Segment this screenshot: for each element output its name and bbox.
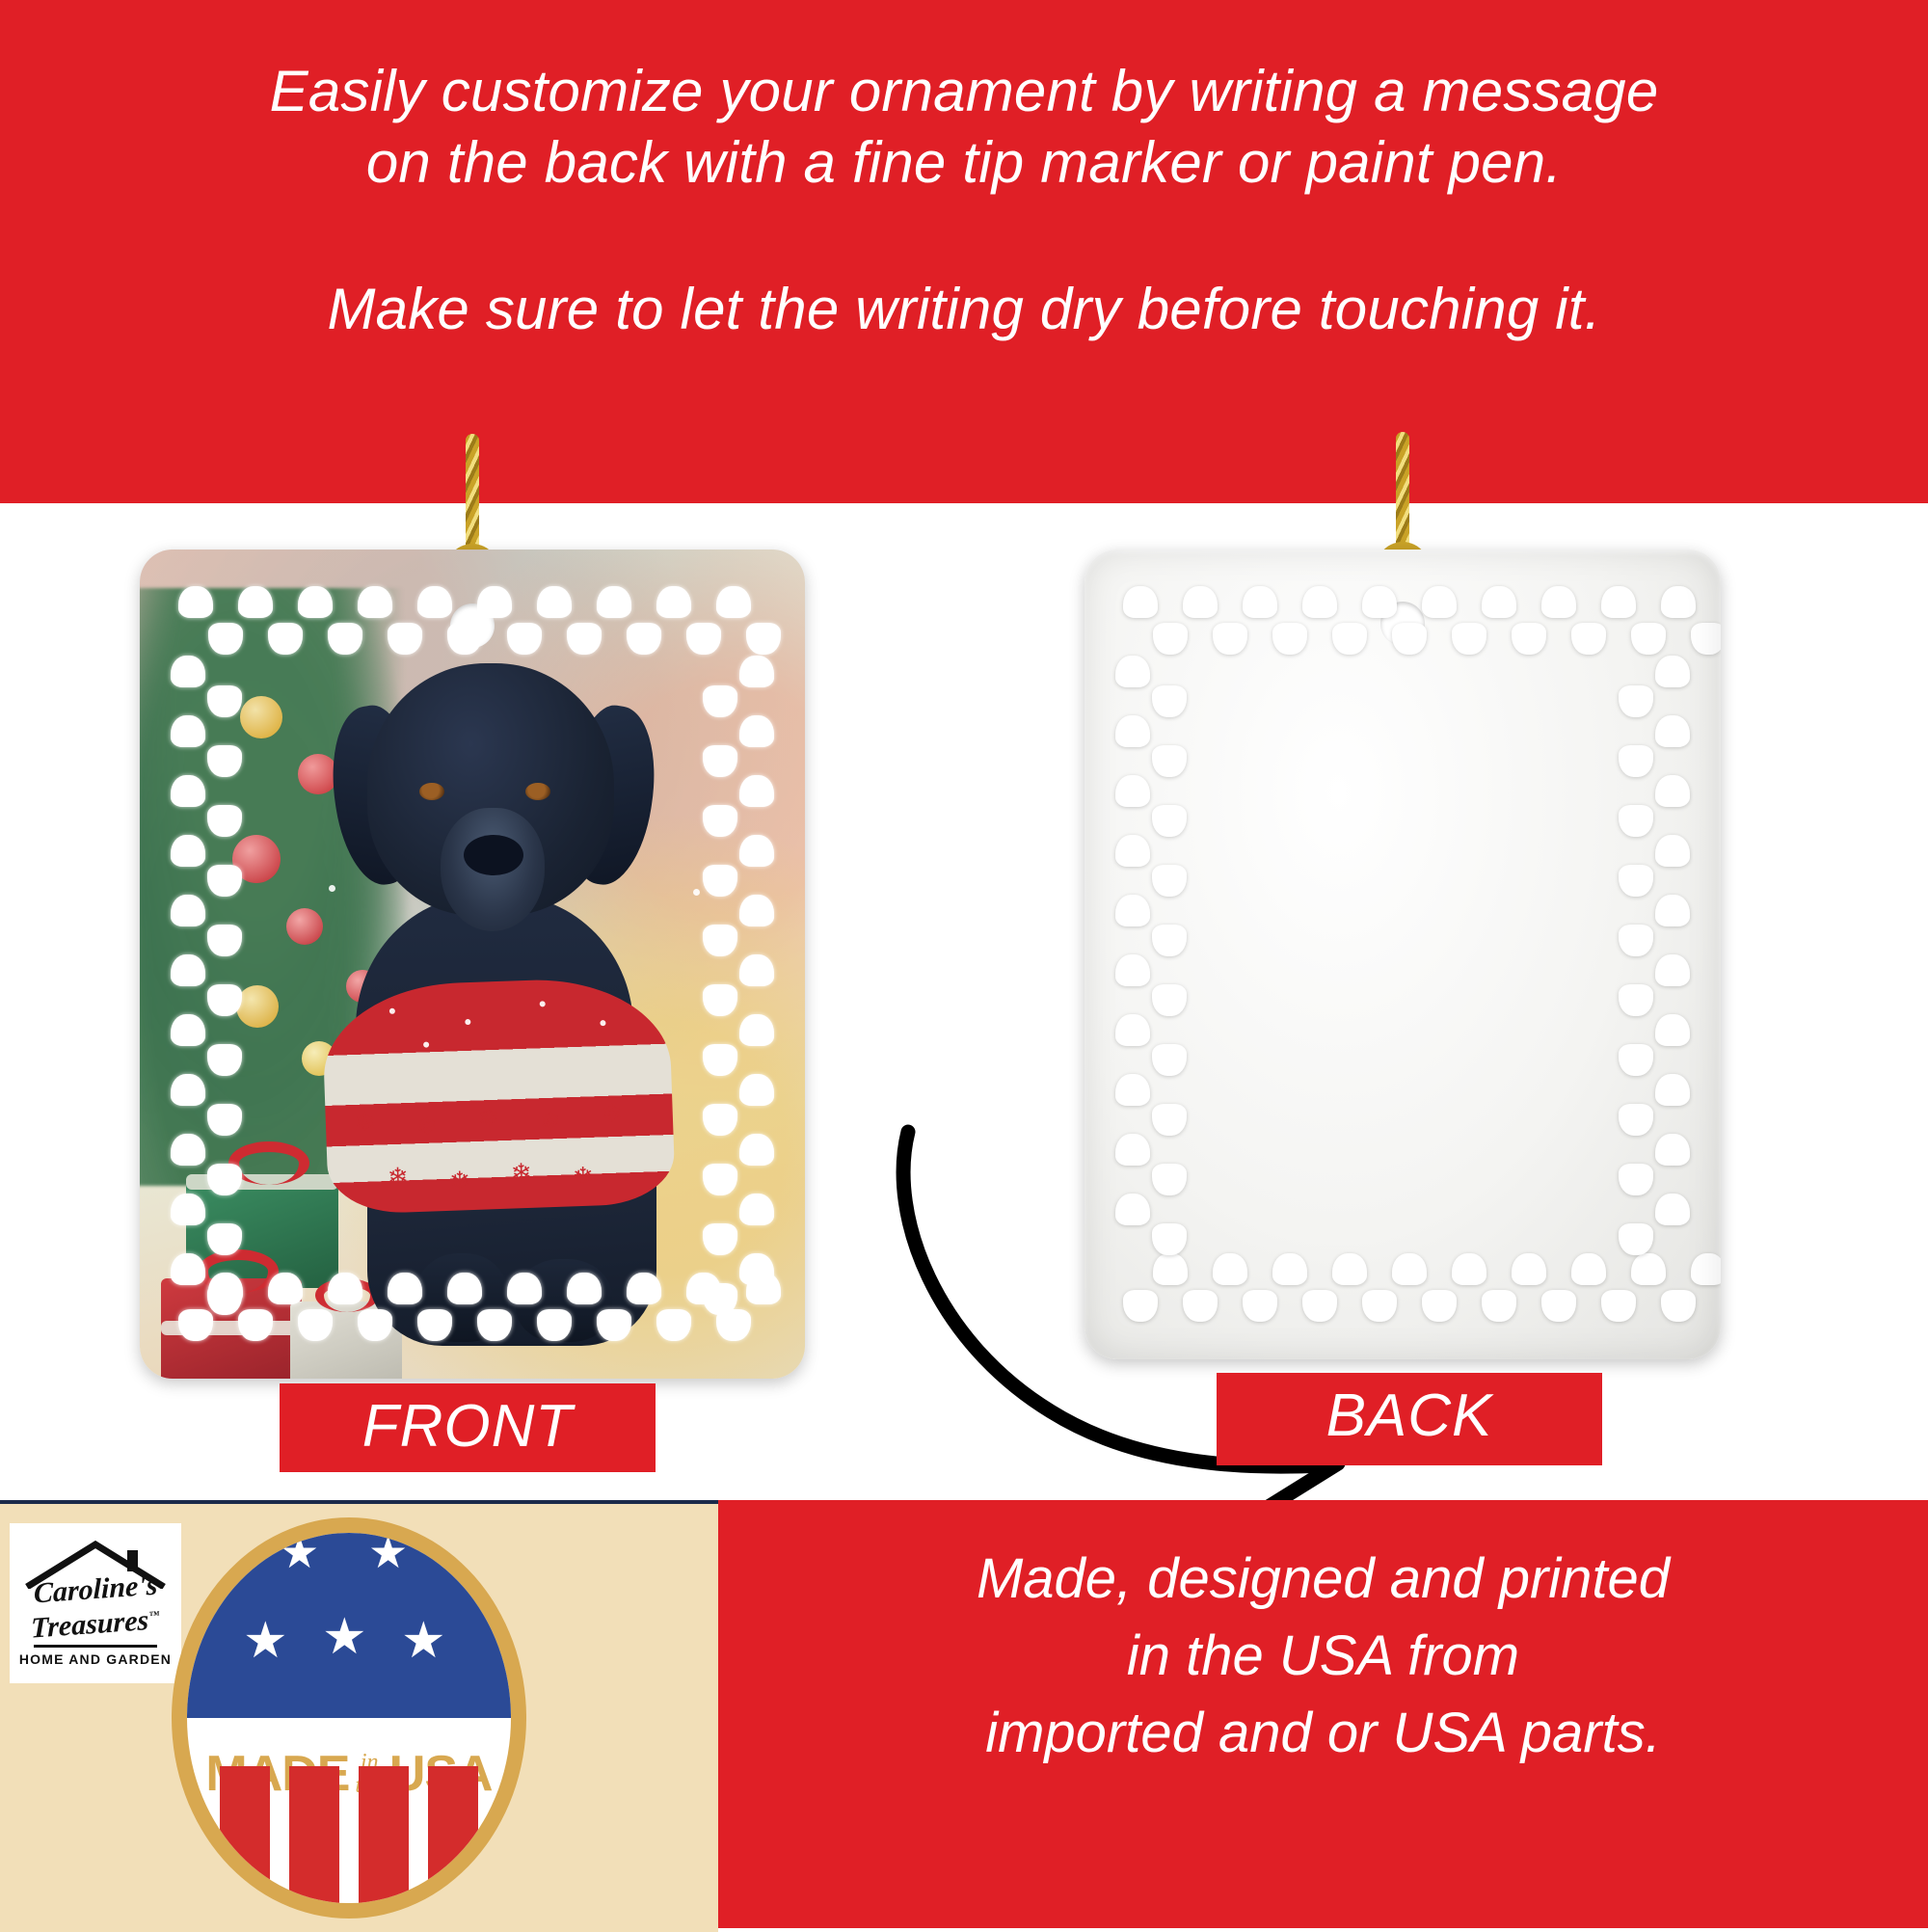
lace-cutout: [178, 1309, 213, 1341]
lace-cutout: [1213, 623, 1247, 655]
lace-cutout: [597, 1309, 631, 1341]
lace-cutout: [207, 1164, 242, 1195]
lace-cutout: [1152, 1044, 1187, 1076]
lace-cutout: [171, 954, 205, 986]
lace-cutout: [1655, 1014, 1690, 1046]
lace-cutout: [171, 1014, 205, 1046]
lace-cutout: [1152, 1223, 1187, 1255]
front-ornament-tile: ❄ ❄ ❄ ❄ ❄ ❄ ❄ ❄ ❄: [140, 550, 805, 1379]
lace-cutout: [171, 835, 205, 867]
lace-cutout: [1619, 1044, 1653, 1076]
lace-cutout: [1452, 623, 1486, 655]
lace-cutout: [207, 1044, 242, 1076]
lace-cutout: [1655, 1074, 1690, 1106]
lace-cutout: [1115, 1014, 1150, 1046]
lace-cutout: [1422, 1290, 1457, 1322]
header-instruction-block: Easily customize your ornament by writin…: [0, 56, 1928, 345]
dog-eye-icon: [419, 783, 444, 800]
lace-cutout: [1123, 586, 1158, 618]
lace-cutout: [507, 623, 542, 655]
lace-cutout: [703, 1044, 737, 1076]
lace-cutout: [703, 1104, 737, 1136]
lace-cutout: [207, 925, 242, 956]
lace-cutout: [1512, 623, 1546, 655]
lace-cutout: [171, 656, 205, 687]
lace-cutout: [238, 586, 273, 618]
lace-cutout: [208, 623, 243, 655]
lace-cutout: [1302, 1290, 1337, 1322]
lace-cutout: [1332, 623, 1367, 655]
lace-cutout: [207, 805, 242, 837]
lace-cutout: [447, 1273, 482, 1304]
lace-cutout: [1213, 1253, 1247, 1285]
lace-cutout: [1655, 775, 1690, 807]
lace-cutout: [703, 1164, 737, 1195]
product-stage: ❄ ❄ ❄ ❄ ❄ ❄ ❄ ❄ ❄: [0, 503, 1928, 1500]
lace-cutout: [171, 715, 205, 747]
lace-cutout: [1452, 1253, 1486, 1285]
lace-cutout: [739, 1253, 774, 1285]
lace-cutout: [739, 895, 774, 926]
lace-cutout: [739, 775, 774, 807]
lace-cutout: [388, 623, 422, 655]
lace-cutout: [1619, 925, 1653, 956]
lace-cutout: [1571, 1253, 1606, 1285]
lace-cutout: [1631, 1253, 1666, 1285]
lace-cutout: [1392, 623, 1427, 655]
lace-cutout: [1153, 1253, 1188, 1285]
brand-divider: [34, 1645, 157, 1648]
lace-cutout: [1183, 586, 1218, 618]
lace-cutout: [537, 586, 572, 618]
lace-cutout: [703, 1223, 737, 1255]
header-line-2: on the back with a fine tip marker or pa…: [0, 127, 1928, 199]
lace-cutout: [207, 1283, 242, 1315]
lace-cutout: [1152, 925, 1187, 956]
lace-cutout: [171, 775, 205, 807]
lace-cutout: [1661, 586, 1696, 618]
footer-text-line-1: Made, designed and printed: [718, 1541, 1928, 1618]
lace-cutout: [1482, 586, 1516, 618]
lace-cutout: [656, 586, 691, 618]
lace-cutout: [1152, 685, 1187, 717]
lace-cutout: [1115, 1134, 1150, 1166]
lace-cutout: [207, 865, 242, 897]
lace-cutout: [1631, 623, 1666, 655]
lace-cutout: [1655, 895, 1690, 926]
lace-cutout: [739, 1194, 774, 1225]
lace-cutout: [171, 1194, 205, 1225]
lace-cutout: [567, 623, 602, 655]
lace-cutout: [207, 1223, 242, 1255]
back-ornament-tile: [1084, 550, 1721, 1359]
lace-cutout: [358, 586, 392, 618]
hanging-cord-icon: [466, 434, 479, 553]
footer: Caroline's Treasures™ HOME AND GARDEN ★ …: [0, 1500, 1928, 1928]
lace-cutout: [298, 1309, 333, 1341]
lace-cutout: [739, 1074, 774, 1106]
lace-cutout: [1153, 623, 1188, 655]
lace-cutout: [1571, 623, 1606, 655]
lace-cutout: [178, 586, 213, 618]
lace-cutout: [1619, 984, 1653, 1016]
lace-cutout: [703, 805, 737, 837]
bauble-gold-icon: [240, 696, 282, 738]
lace-cutout: [1115, 775, 1150, 807]
lace-cutout: [447, 623, 482, 655]
lace-cutout: [1619, 745, 1653, 777]
back-ornament[interactable]: [1084, 550, 1721, 1359]
lace-cutout: [1601, 1290, 1636, 1322]
lace-cutout: [298, 586, 333, 618]
lace-cutout: [207, 685, 242, 717]
lace-cutout: [739, 954, 774, 986]
lace-cutout: [417, 1309, 452, 1341]
lace-cutout: [328, 623, 362, 655]
lace-cutout: [417, 586, 452, 618]
lace-cutout: [477, 586, 512, 618]
footer-text-line-3: imported and or USA parts.: [718, 1695, 1928, 1772]
lace-cutout: [507, 1273, 542, 1304]
lace-cutout: [1619, 865, 1653, 897]
lace-cutout: [1619, 805, 1653, 837]
lace-cutout: [1272, 623, 1307, 655]
lace-cutout: [1655, 656, 1690, 687]
lace-cutout: [207, 745, 242, 777]
made-in-usa-badge-icon: ★ ★ ★ ★ ★ MADE in the USA: [172, 1517, 526, 1919]
lace-cutout: [171, 1134, 205, 1166]
lace-cutout: [656, 1309, 691, 1341]
lace-cutout: [1541, 1290, 1576, 1322]
lace-cutout: [171, 895, 205, 926]
lace-cutout: [1243, 586, 1277, 618]
lace-cutout: [627, 623, 661, 655]
lace-cutout: [703, 925, 737, 956]
lace-cutout: [1183, 1290, 1218, 1322]
footer-brand-panel: Caroline's Treasures™ HOME AND GARDEN ★ …: [0, 1500, 718, 1932]
lace-cutout: [238, 1309, 273, 1341]
hanging-hole: [1380, 602, 1425, 646]
brand-logo[interactable]: Caroline's Treasures™ HOME AND GARDEN: [10, 1523, 181, 1683]
bauble-gold-icon: [236, 985, 279, 1028]
header-line-1: Easily customize your ornament by writin…: [0, 56, 1928, 127]
lace-cutout: [1541, 586, 1576, 618]
lace-cutout: [1655, 1194, 1690, 1225]
lace-cutout: [1152, 984, 1187, 1016]
lace-cutout: [171, 1253, 205, 1285]
lace-cutout: [739, 1014, 774, 1046]
lace-cutout: [207, 1104, 242, 1136]
footer-origin-text: Made, designed and printed in the USA fr…: [718, 1541, 1928, 1772]
lace-cutout: [739, 715, 774, 747]
newfoundland-dog-illustration: ❄ ❄ ❄ ❄ ❄ ❄ ❄ ❄ ❄: [311, 663, 670, 1338]
lace-cutout: [1115, 715, 1150, 747]
lace-cutout: [1619, 1223, 1653, 1255]
lace-cutout: [739, 1134, 774, 1166]
lace-cutout: [1661, 1290, 1696, 1322]
lace-cutout: [1115, 656, 1150, 687]
lace-cutout: [477, 1309, 512, 1341]
lace-cutout: [1362, 586, 1397, 618]
lace-cutout: [1601, 586, 1636, 618]
lace-cutout: [1272, 1253, 1307, 1285]
dog-eye-icon: [525, 783, 550, 800]
lace-cutout: [207, 984, 242, 1016]
lace-cutout: [1152, 865, 1187, 897]
lace-cutout: [1655, 954, 1690, 986]
christmas-sweater: ❄ ❄ ❄ ❄ ❄ ❄ ❄ ❄ ❄: [321, 976, 676, 1215]
lace-cutout: [171, 1074, 205, 1106]
lace-cutout: [1392, 1253, 1427, 1285]
lace-cutout: [1115, 954, 1150, 986]
lace-cutout: [686, 623, 721, 655]
lace-cutout: [1152, 805, 1187, 837]
lace-cutout: [1691, 623, 1721, 655]
lace-cutout: [703, 984, 737, 1016]
lace-cutout: [1332, 1253, 1367, 1285]
lace-cutout: [1512, 1253, 1546, 1285]
lace-cutout: [537, 1309, 572, 1341]
lace-cutout: [268, 1273, 303, 1304]
lace-cutout: [1243, 1290, 1277, 1322]
hanging-cord-icon: [1396, 432, 1409, 553]
brand-tagline: HOME AND GARDEN: [19, 1651, 172, 1667]
lace-cutout: [1152, 1164, 1187, 1195]
badge-stripes: [187, 1766, 511, 1903]
lace-cutout: [1619, 1104, 1653, 1136]
lace-cutout: [328, 1273, 362, 1304]
front-label: FRONT: [280, 1383, 656, 1472]
lace-cutout: [1655, 835, 1690, 867]
lace-cutout: [1655, 1134, 1690, 1166]
lace-cutout: [1152, 745, 1187, 777]
lace-cutout: [1655, 715, 1690, 747]
lace-cutout: [388, 1273, 422, 1304]
lace-cutout: [1482, 1290, 1516, 1322]
dog-nose-icon: [464, 835, 523, 875]
lace-cutout: [1115, 1074, 1150, 1106]
header-banner: Easily customize your ornament by writin…: [0, 0, 1928, 503]
header-line-3: Make sure to let the writing dry before …: [0, 274, 1928, 345]
lace-cutout: [703, 685, 737, 717]
lace-cutout: [716, 586, 751, 618]
back-label: BACK: [1217, 1373, 1602, 1465]
lace-cutout: [1152, 1104, 1187, 1136]
lace-cutout: [1123, 1290, 1158, 1322]
lace-cutout: [358, 1309, 392, 1341]
lace-cutout: [739, 656, 774, 687]
lace-cutout: [1691, 1253, 1721, 1285]
lace-cutout: [703, 865, 737, 897]
lace-cutout: [1302, 586, 1337, 618]
lace-cutout: [1422, 586, 1457, 618]
lace-cutout: [1619, 1164, 1653, 1195]
lace-cutout: [703, 1283, 737, 1315]
front-ornament[interactable]: ❄ ❄ ❄ ❄ ❄ ❄ ❄ ❄ ❄: [140, 550, 805, 1379]
lace-cutout: [1115, 835, 1150, 867]
lace-cutout: [567, 1273, 602, 1304]
lace-cutout: [268, 623, 303, 655]
lace-cutout: [739, 835, 774, 867]
lace-cutout: [597, 586, 631, 618]
lace-cutout: [703, 745, 737, 777]
lace-cutout: [1115, 1194, 1150, 1225]
lace-cutout: [1115, 895, 1150, 926]
lace-cutout: [1619, 685, 1653, 717]
lace-cutout: [1362, 1290, 1397, 1322]
footer-text-line-2: in the USA from: [718, 1618, 1928, 1695]
lace-cutout: [746, 623, 781, 655]
lace-cutout: [627, 1273, 661, 1304]
